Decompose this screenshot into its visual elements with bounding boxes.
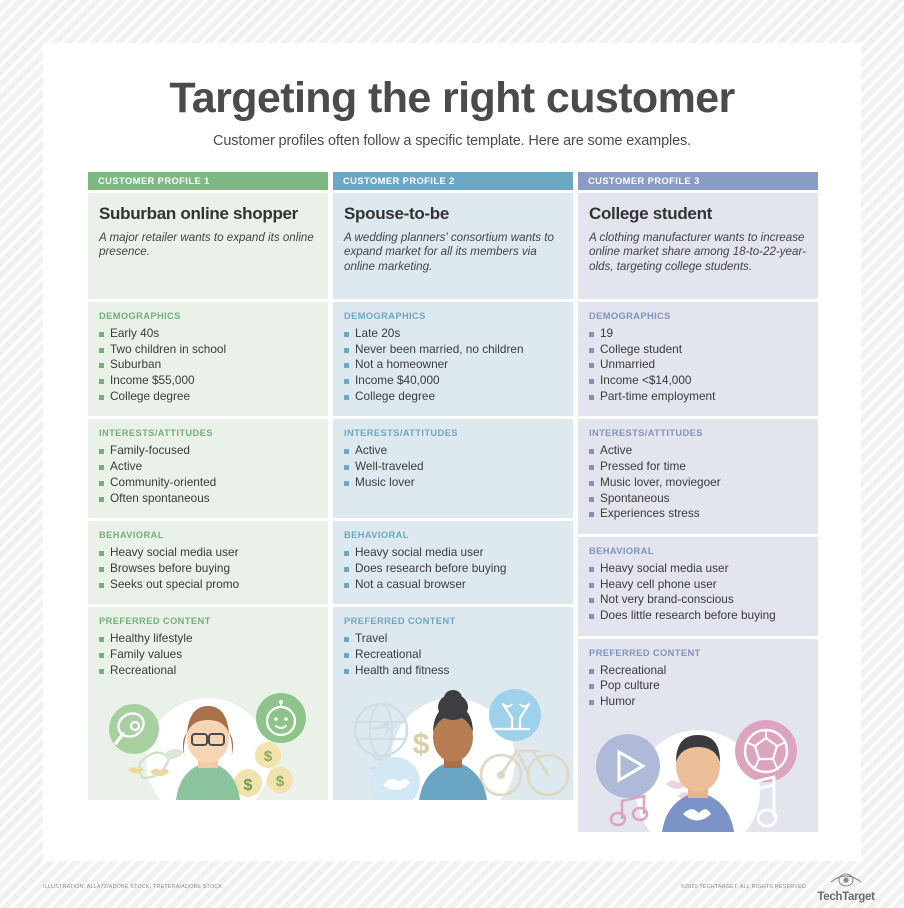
list-item: Experiences stress <box>589 506 807 522</box>
section-title: PREFERRED CONTENT <box>99 616 317 626</box>
bullet-list: Late 20s Never been married, no children… <box>344 326 562 404</box>
list-item: Not a casual browser <box>344 577 562 593</box>
list-item: Pressed for time <box>589 459 807 475</box>
list-item: Travel <box>344 631 562 647</box>
section-title: PREFERRED CONTENT <box>344 616 562 626</box>
bullet-list: Travel Recreational Health and fitness <box>344 631 562 678</box>
profile-2-name: Spouse-to-be <box>344 204 562 224</box>
profile-1-behavioral: BEHAVIORAL Heavy social media user Brows… <box>88 521 328 604</box>
list-item: Browses before buying <box>99 561 317 577</box>
profile-2-eyebrow: CUSTOMER PROFILE 2 <box>343 176 455 186</box>
list-item: Does little research before buying <box>589 608 807 624</box>
list-item: Active <box>99 459 317 475</box>
list-item: Spontaneous <box>589 491 807 507</box>
profile-2-intro: Spouse-to-be A wedding planners' consort… <box>333 193 573 299</box>
section-title: PREFERRED CONTENT <box>589 648 807 658</box>
profile-3-name: College student <box>589 204 807 224</box>
list-item: Music lover <box>344 475 562 491</box>
techtarget-logo: TechTarget <box>810 872 882 903</box>
list-item: Recreational <box>344 647 562 663</box>
profile-columns: CUSTOMER PROFILE 1 Suburban online shopp… <box>88 172 818 832</box>
list-item: Suburban <box>99 357 317 373</box>
list-item: Pop culture <box>589 678 807 694</box>
list-item: Healthy lifestyle <box>99 631 317 647</box>
profile-1-intro: Suburban online shopper A major retailer… <box>88 193 328 299</box>
infographic-card: Targeting the right customer Customer pr… <box>43 43 861 861</box>
bullet-list: Heavy social media user Heavy cell phone… <box>589 561 807 624</box>
list-item: College degree <box>99 389 317 405</box>
section-title: DEMOGRAPHICS <box>99 311 317 321</box>
profile-3-interests: INTERESTS/ATTITUDES Active Pressed for t… <box>578 419 818 533</box>
svg-text:$: $ <box>244 777 253 794</box>
profile-column-3: CUSTOMER PROFILE 3 College student A clo… <box>578 172 818 832</box>
profile-3-behavioral: BEHAVIORAL Heavy social media user Heavy… <box>578 537 818 636</box>
profile-2-eyebrow-bar: CUSTOMER PROFILE 2 <box>333 172 573 190</box>
list-item: Well-traveled <box>344 459 562 475</box>
bullet-list: Heavy social media user Does research be… <box>344 545 562 592</box>
profile-3-illustration <box>578 714 818 832</box>
profile-1-preferred-content: PREFERRED CONTENT Healthy lifestyle Fami… <box>88 607 328 682</box>
list-item: Active <box>589 443 807 459</box>
profile-1-illustration: $ $ $ <box>88 682 328 800</box>
list-item: Not very brand-conscious <box>589 592 807 608</box>
list-item: Recreational <box>589 663 807 679</box>
bullet-list: Recreational Pop culture Humor <box>589 663 807 710</box>
svg-text:$: $ <box>276 773 285 790</box>
profile-1-eyebrow-bar: CUSTOMER PROFILE 1 <box>88 172 328 190</box>
bullet-list: Heavy social media user Browses before b… <box>99 545 317 592</box>
page-title: Targeting the right customer <box>43 75 861 122</box>
profile-3-eyebrow: CUSTOMER PROFILE 3 <box>588 176 700 186</box>
list-item: Income $55,000 <box>99 373 317 389</box>
page-subtitle: Customer profiles often follow a specifi… <box>43 133 861 149</box>
profile-column-1: CUSTOMER PROFILE 1 Suburban online shopp… <box>88 172 328 832</box>
list-item: Not a homeowner <box>344 357 562 373</box>
profile-column-2: CUSTOMER PROFILE 2 Spouse-to-be A weddin… <box>333 172 573 832</box>
profile-3-intro: College student A clothing manufacturer … <box>578 193 818 299</box>
section-title: INTERESTS/ATTITUDES <box>589 428 807 438</box>
list-item: Does research before buying <box>344 561 562 577</box>
profile-3-description: A clothing manufacturer wants to increas… <box>589 231 807 274</box>
profile-1-eyebrow: CUSTOMER PROFILE 1 <box>98 176 210 186</box>
bullet-list: Family-focused Active Community-oriented… <box>99 443 317 506</box>
bullet-list: Healthy lifestyle Family values Recreati… <box>99 631 317 678</box>
bullet-list: 19 College student Unmarried Income <$14… <box>589 326 807 404</box>
copyright-notice: ©2020 TECHTARGET. ALL RIGHTS RESERVED <box>681 884 806 890</box>
illustration-credit: ILLUSTRATION: ALLA72/ADOBE STOCK, TRETER… <box>43 884 224 890</box>
section-title: BEHAVIORAL <box>99 530 317 540</box>
eye-icon <box>829 872 863 888</box>
profile-2-preferred-content: PREFERRED CONTENT Travel Recreational He… <box>333 607 573 682</box>
section-title: DEMOGRAPHICS <box>589 311 807 321</box>
list-item: Heavy social media user <box>99 545 317 561</box>
profile-2-illustration: $ <box>333 682 573 800</box>
list-item: Music lover, moviegoer <box>589 475 807 491</box>
bullet-list: Early 40s Two children in school Suburba… <box>99 326 317 404</box>
list-item: Early 40s <box>99 326 317 342</box>
list-item: Seeks out special promo <box>99 577 317 593</box>
list-item: Never been married, no children <box>344 342 562 358</box>
list-item: Heavy social media user <box>344 545 562 561</box>
profile-1-demographics: DEMOGRAPHICS Early 40s Two children in s… <box>88 302 328 416</box>
svg-text:$: $ <box>413 728 430 761</box>
techtarget-wordmark: TechTarget <box>810 891 882 903</box>
list-item: Recreational <box>99 663 317 679</box>
list-item: Family values <box>99 647 317 663</box>
list-item: Heavy social media user <box>589 561 807 577</box>
bullet-list: Active Pressed for time Music lover, mov… <box>589 443 807 521</box>
section-title: BEHAVIORAL <box>589 546 807 556</box>
list-item: Humor <box>589 694 807 710</box>
profile-2-demographics: DEMOGRAPHICS Late 20s Never been married… <box>333 302 573 416</box>
profile-1-description: A major retailer wants to expand its onl… <box>99 231 317 260</box>
list-item: Income <$14,000 <box>589 373 807 389</box>
profile-1-name: Suburban online shopper <box>99 204 317 224</box>
list-item: Family-focused <box>99 443 317 459</box>
profile-3-preferred-content: PREFERRED CONTENT Recreational Pop cultu… <box>578 639 818 714</box>
section-title: INTERESTS/ATTITUDES <box>99 428 317 438</box>
profile-2-behavioral: BEHAVIORAL Heavy social media user Does … <box>333 521 573 604</box>
profile-3-eyebrow-bar: CUSTOMER PROFILE 3 <box>578 172 818 190</box>
bullet-list: Active Well-traveled Music lover <box>344 443 562 506</box>
profile-2-interests: INTERESTS/ATTITUDES Active Well-traveled… <box>333 419 573 518</box>
list-item: Community-oriented <box>99 475 317 491</box>
list-item: Often spontaneous <box>99 491 317 507</box>
list-item: Active <box>344 443 562 459</box>
list-item: Income $40,000 <box>344 373 562 389</box>
list-item: Health and fitness <box>344 663 562 679</box>
svg-text:$: $ <box>264 748 273 765</box>
section-title: INTERESTS/ATTITUDES <box>344 428 562 438</box>
list-item: Unmarried <box>589 357 807 373</box>
list-item: College degree <box>344 389 562 405</box>
section-title: DEMOGRAPHICS <box>344 311 562 321</box>
profile-1-interests: INTERESTS/ATTITUDES Family-focused Activ… <box>88 419 328 518</box>
list-item: College student <box>589 342 807 358</box>
profile-3-demographics: DEMOGRAPHICS 19 College student Unmarrie… <box>578 302 818 416</box>
list-item: Heavy cell phone user <box>589 577 807 593</box>
list-item: Two children in school <box>99 342 317 358</box>
profile-2-description: A wedding planners' consortium wants to … <box>344 231 562 274</box>
section-title: BEHAVIORAL <box>344 530 562 540</box>
list-item: Part-time employment <box>589 389 807 405</box>
list-item: 19 <box>589 326 807 342</box>
list-item: Late 20s <box>344 326 562 342</box>
